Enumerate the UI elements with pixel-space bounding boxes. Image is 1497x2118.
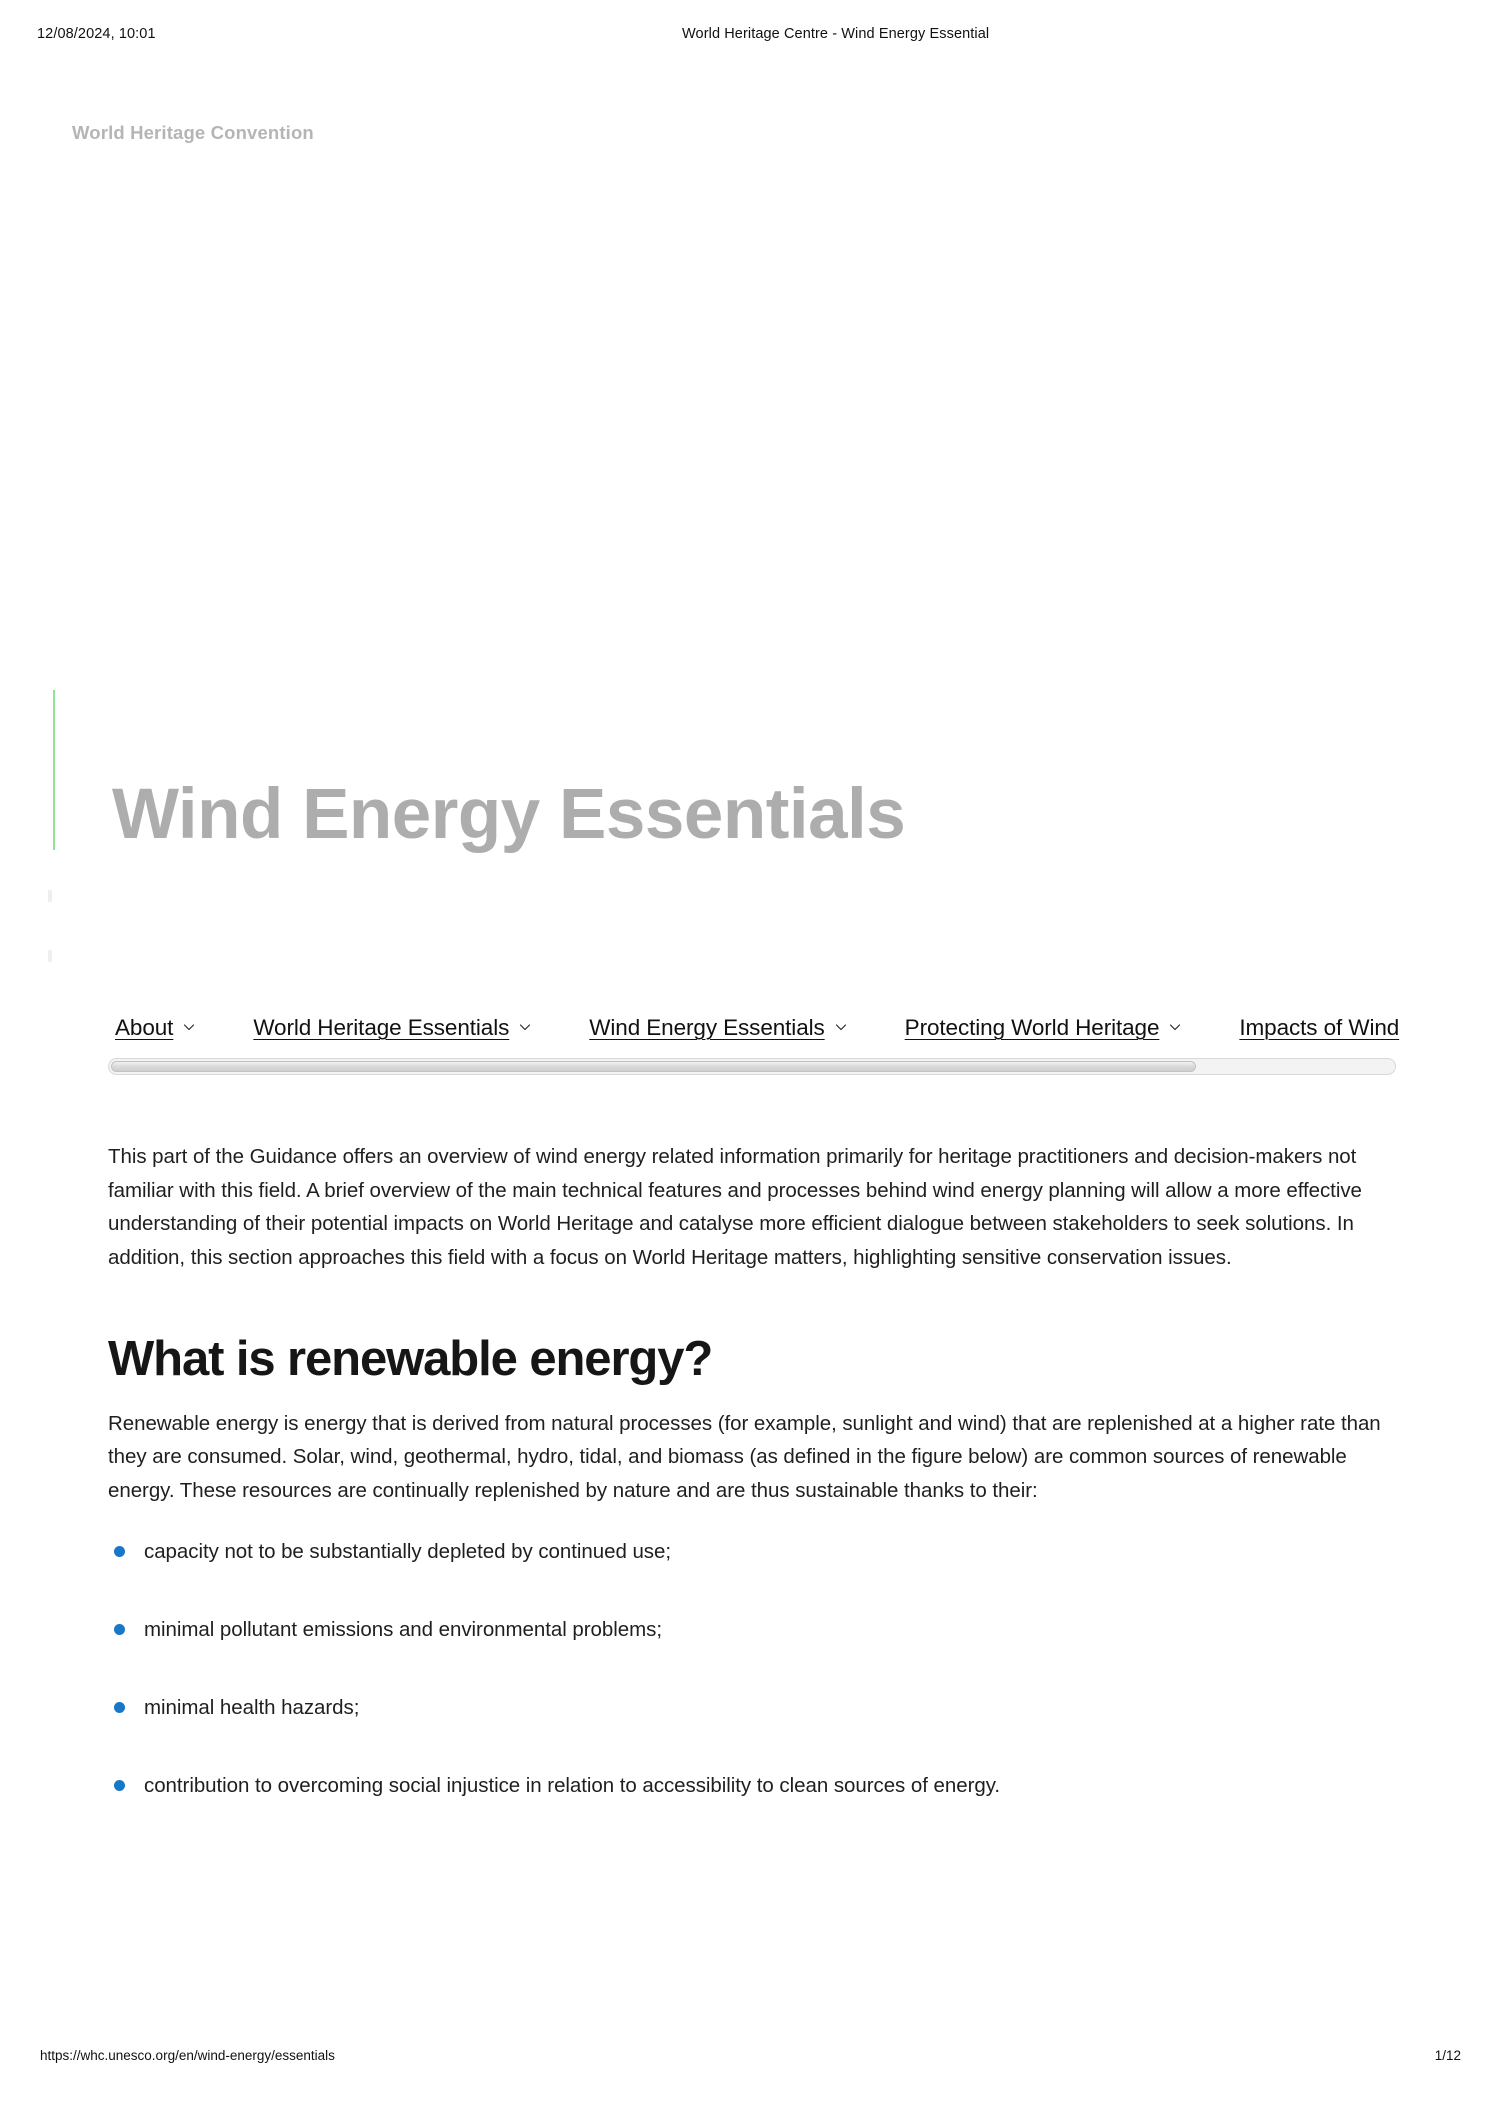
list-item-label: contribution to overcoming social injust… bbox=[144, 1774, 1000, 1797]
bullet-icon bbox=[114, 1780, 125, 1791]
print-footer-url: https://whc.unesco.org/en/wind-energy/es… bbox=[40, 2048, 335, 2063]
nav-horizontal-scrollbar[interactable] bbox=[108, 1058, 1396, 1075]
chevron-down-icon[interactable] bbox=[1169, 1021, 1181, 1033]
hero-accent-rule bbox=[53, 690, 55, 850]
share-icons-placeholder bbox=[48, 890, 64, 980]
list-item: contribution to overcoming social injust… bbox=[108, 1771, 1398, 1801]
list-item: capacity not to be substantially deplete… bbox=[108, 1537, 1398, 1567]
chevron-down-icon[interactable] bbox=[835, 1021, 847, 1033]
printed-page: 12/08/2024, 10:01 World Heritage Centre … bbox=[0, 0, 1497, 2118]
bullet-icon bbox=[114, 1702, 125, 1713]
list-item-label: minimal pollutant emissions and environm… bbox=[144, 1618, 662, 1641]
nav-item-label: About bbox=[115, 1015, 173, 1041]
nav-item-wind-energy-essentials[interactable]: Wind Energy Essentials bbox=[589, 1015, 846, 1041]
bullet-icon bbox=[114, 1546, 125, 1557]
intro-paragraph: This part of the Guidance offers an over… bbox=[108, 1140, 1398, 1274]
section-heading: What is renewable energy? bbox=[108, 1333, 1398, 1387]
hero-section: Wind Energy Essentials bbox=[0, 690, 1497, 960]
nav-list: About World Heritage Essentials Wind Ene… bbox=[115, 1005, 1497, 1051]
section-navigation: About World Heritage Essentials Wind Ene… bbox=[0, 1005, 1497, 1051]
site-brand[interactable]: World Heritage Convention bbox=[72, 122, 314, 144]
nav-item-about[interactable]: About bbox=[115, 1015, 195, 1041]
bullet-list: capacity not to be substantially deplete… bbox=[108, 1537, 1398, 1801]
print-header: 12/08/2024, 10:01 World Heritage Centre … bbox=[0, 26, 1497, 46]
nav-item-label: World Heritage Essentials bbox=[253, 1015, 509, 1041]
page-title: Wind Energy Essentials bbox=[112, 778, 905, 853]
nav-item-world-heritage-essentials[interactable]: World Heritage Essentials bbox=[253, 1015, 531, 1041]
nav-item-label: Impacts of Wind bbox=[1239, 1015, 1399, 1041]
nav-item-label: Wind Energy Essentials bbox=[589, 1015, 824, 1041]
print-header-title: World Heritage Centre - Wind Energy Esse… bbox=[682, 26, 989, 42]
list-item: minimal pollutant emissions and environm… bbox=[108, 1615, 1398, 1645]
nav-item-impacts-of-wind[interactable]: Impacts of Wind bbox=[1239, 1015, 1399, 1041]
list-item-label: capacity not to be substantially deplete… bbox=[144, 1540, 671, 1563]
scrollbar-thumb[interactable] bbox=[111, 1061, 1196, 1072]
list-item-label: minimal health hazards; bbox=[144, 1696, 359, 1719]
share-icon-2[interactable] bbox=[48, 950, 52, 962]
print-header-date: 12/08/2024, 10:01 bbox=[37, 26, 156, 42]
list-item: minimal health hazards; bbox=[108, 1693, 1398, 1723]
body-paragraph: Renewable energy is energy that is deriv… bbox=[108, 1407, 1398, 1508]
chevron-down-icon[interactable] bbox=[183, 1021, 195, 1033]
bullet-icon bbox=[114, 1624, 125, 1635]
nav-item-protecting-world-heritage[interactable]: Protecting World Heritage bbox=[905, 1015, 1182, 1041]
print-footer: https://whc.unesco.org/en/wind-energy/es… bbox=[0, 2048, 1497, 2066]
chevron-down-icon[interactable] bbox=[519, 1021, 531, 1033]
print-footer-page-number: 1/12 bbox=[1435, 2048, 1461, 2063]
share-icon-1[interactable] bbox=[48, 890, 52, 902]
nav-item-label: Protecting World Heritage bbox=[905, 1015, 1160, 1041]
main-content: This part of the Guidance offers an over… bbox=[108, 1140, 1398, 1801]
